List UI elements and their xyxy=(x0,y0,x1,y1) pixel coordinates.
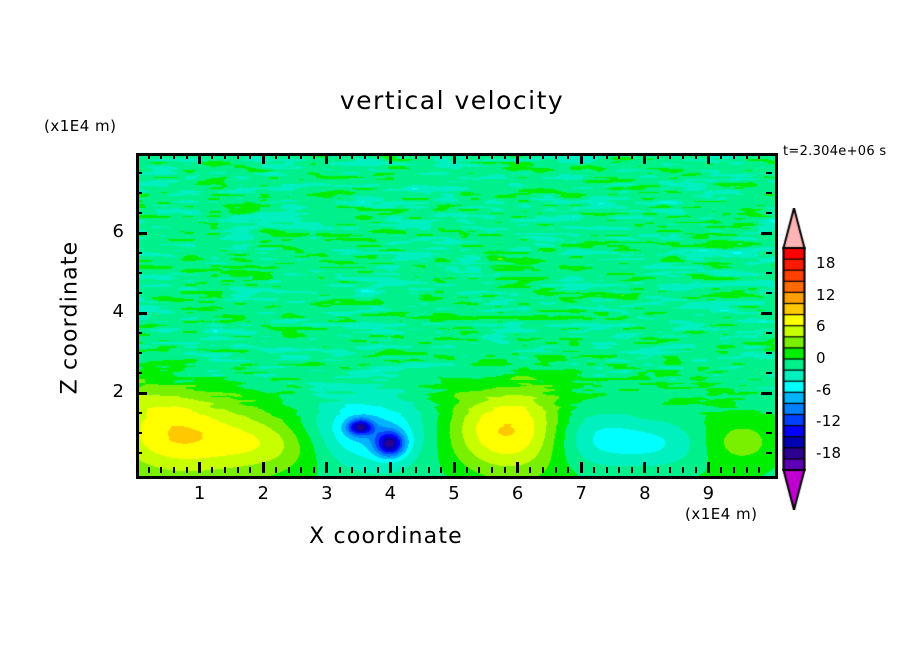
x-minor-tick-top xyxy=(402,153,404,159)
x-minor-tick xyxy=(682,467,684,473)
contour-field xyxy=(139,156,775,476)
x-minor-tick xyxy=(148,467,150,473)
x-minor-tick xyxy=(720,467,722,473)
y-major-tick xyxy=(136,312,147,315)
y-minor-tick-right xyxy=(766,332,772,334)
x-minor-tick xyxy=(657,467,659,473)
x-tick-label: 4 xyxy=(370,483,410,504)
x-tick-label: 1 xyxy=(180,483,220,504)
y-minor-tick xyxy=(136,452,142,454)
x-minor-tick-top xyxy=(364,153,366,159)
colorbar-tick-label: -6 xyxy=(816,381,832,399)
x-major-tick-top xyxy=(389,153,392,164)
x-minor-tick xyxy=(351,467,353,473)
x-minor-tick xyxy=(339,467,341,473)
x-minor-tick xyxy=(186,467,188,473)
y-minor-tick-right xyxy=(766,192,772,194)
colorbar-gradient xyxy=(782,208,806,510)
x-minor-tick xyxy=(440,467,442,473)
x-minor-tick xyxy=(746,467,748,473)
x-minor-tick-top xyxy=(249,153,251,159)
y-major-tick xyxy=(136,392,147,395)
x-minor-tick-top xyxy=(491,153,493,159)
y-minor-tick-right xyxy=(766,412,772,414)
x-minor-tick xyxy=(288,467,290,473)
x-minor-tick-top xyxy=(300,153,302,159)
colorbar-tick-label: -18 xyxy=(816,444,841,462)
y-minor-tick-right xyxy=(766,452,772,454)
contour-figure: vertical velocity (x1E4 m) t=2.304e+06 s… xyxy=(0,0,904,654)
x-minor-tick xyxy=(529,467,531,473)
x-minor-tick xyxy=(542,467,544,473)
x-minor-tick-top xyxy=(377,153,379,159)
y-major-tick-right xyxy=(761,392,772,395)
time-annotation: t=2.304e+06 s xyxy=(783,144,886,159)
x-tick-label: 6 xyxy=(498,483,538,504)
x-minor-tick-top xyxy=(695,153,697,159)
x-minor-tick-top xyxy=(351,153,353,159)
colorbar-tick-label: 6 xyxy=(816,317,826,335)
x-minor-tick-top xyxy=(466,153,468,159)
x-minor-tick-top xyxy=(555,153,557,159)
x-minor-tick xyxy=(478,467,480,473)
x-minor-tick-top xyxy=(504,153,506,159)
x-major-tick-top xyxy=(262,153,265,164)
x-minor-tick xyxy=(313,467,315,473)
y-minor-tick-right xyxy=(766,432,772,434)
x-major-tick-top xyxy=(707,153,710,164)
x-minor-tick xyxy=(275,467,277,473)
page-title: vertical velocity xyxy=(0,86,904,115)
colorbar-tick-label: 0 xyxy=(816,349,826,367)
x-major-tick xyxy=(516,462,519,473)
x-minor-tick xyxy=(567,467,569,473)
x-minor-tick-top xyxy=(733,153,735,159)
x-minor-tick-top xyxy=(313,153,315,159)
x-minor-tick xyxy=(237,467,239,473)
y-minor-tick-right xyxy=(766,292,772,294)
x-minor-tick-top xyxy=(160,153,162,159)
x-minor-tick-top xyxy=(173,153,175,159)
x-minor-tick xyxy=(428,467,430,473)
x-major-tick xyxy=(453,462,456,473)
x-axis-title: X coordinate xyxy=(0,524,772,549)
x-minor-tick-top xyxy=(567,153,569,159)
x-minor-tick xyxy=(555,467,557,473)
x-minor-tick-top xyxy=(148,153,150,159)
y-major-tick-right xyxy=(761,232,772,235)
x-major-tick-top xyxy=(325,153,328,164)
x-major-tick-top xyxy=(580,153,583,164)
x-minor-tick xyxy=(606,467,608,473)
x-major-tick xyxy=(325,462,328,473)
x-minor-tick-top xyxy=(224,153,226,159)
x-minor-tick-top xyxy=(275,153,277,159)
x-minor-tick-top xyxy=(593,153,595,159)
y-tick-label: 2 xyxy=(92,381,124,402)
y-minor-tick xyxy=(136,412,142,414)
x-minor-tick-top xyxy=(478,153,480,159)
x-minor-tick-top xyxy=(631,153,633,159)
x-major-tick xyxy=(262,462,265,473)
x-tick-label: 5 xyxy=(434,483,474,504)
x-minor-tick xyxy=(466,467,468,473)
colorbar xyxy=(782,208,806,510)
y-minor-tick xyxy=(136,172,142,174)
x-minor-tick-top xyxy=(542,153,544,159)
x-major-tick-top xyxy=(453,153,456,164)
x-tick-label: 8 xyxy=(625,483,665,504)
y-minor-tick xyxy=(136,372,142,374)
y-major-tick xyxy=(136,232,147,235)
x-minor-tick-top xyxy=(657,153,659,159)
x-minor-tick xyxy=(618,467,620,473)
x-minor-tick xyxy=(300,467,302,473)
x-major-tick-top xyxy=(516,153,519,164)
y-tick-label: 4 xyxy=(92,301,124,322)
x-minor-tick xyxy=(402,467,404,473)
y-minor-tick xyxy=(136,192,142,194)
x-minor-tick-top xyxy=(186,153,188,159)
x-minor-tick xyxy=(504,467,506,473)
x-major-tick-top xyxy=(643,153,646,164)
x-major-tick xyxy=(643,462,646,473)
x-tick-label: 9 xyxy=(688,483,728,504)
x-minor-tick-top xyxy=(237,153,239,159)
x-minor-tick xyxy=(249,467,251,473)
x-major-tick xyxy=(389,462,392,473)
y-minor-tick xyxy=(136,252,142,254)
y-minor-tick xyxy=(136,272,142,274)
x-minor-tick xyxy=(160,467,162,473)
y-minor-tick-right xyxy=(766,272,772,274)
y-minor-tick-right xyxy=(766,172,772,174)
x-minor-tick xyxy=(758,467,760,473)
x-tick-label: 2 xyxy=(243,483,283,504)
x-major-tick xyxy=(198,462,201,473)
y-minor-tick xyxy=(136,292,142,294)
colorbar-tick-label: 12 xyxy=(816,286,836,304)
x-minor-tick-top xyxy=(288,153,290,159)
x-minor-tick xyxy=(224,467,226,473)
y-axis-title: Z coordinate xyxy=(58,218,83,418)
y-tick-label: 6 xyxy=(92,221,124,242)
y-minor-tick-right xyxy=(766,372,772,374)
x-minor-tick xyxy=(593,467,595,473)
x-minor-tick xyxy=(695,467,697,473)
x-minor-tick xyxy=(631,467,633,473)
y-minor-tick xyxy=(136,432,142,434)
x-minor-tick xyxy=(733,467,735,473)
colorbar-tick-label: 18 xyxy=(816,254,836,272)
x-minor-tick xyxy=(364,467,366,473)
x-minor-tick xyxy=(669,467,671,473)
x-major-tick xyxy=(707,462,710,473)
x-minor-tick-top xyxy=(428,153,430,159)
x-minor-tick xyxy=(491,467,493,473)
y-minor-tick xyxy=(136,332,142,334)
x-minor-tick xyxy=(415,467,417,473)
x-minor-tick-top xyxy=(746,153,748,159)
colorbar-tick-label: -12 xyxy=(816,412,841,430)
y-minor-tick-right xyxy=(766,212,772,214)
x-minor-tick-top xyxy=(758,153,760,159)
x-minor-tick-top xyxy=(669,153,671,159)
plot-area xyxy=(136,153,778,479)
x-minor-tick-top xyxy=(339,153,341,159)
x-minor-tick-top xyxy=(618,153,620,159)
y-axis-unit-label: (x1E4 m) xyxy=(44,117,117,135)
x-axis-unit-label: (x1E4 m) xyxy=(685,505,758,523)
y-major-tick-right xyxy=(761,312,772,315)
y-minor-tick xyxy=(136,212,142,214)
x-minor-tick xyxy=(211,467,213,473)
y-minor-tick-right xyxy=(766,352,772,354)
x-minor-tick-top xyxy=(720,153,722,159)
x-tick-label: 3 xyxy=(307,483,347,504)
x-major-tick xyxy=(580,462,583,473)
x-minor-tick-top xyxy=(415,153,417,159)
x-minor-tick xyxy=(173,467,175,473)
y-minor-tick-right xyxy=(766,252,772,254)
x-minor-tick-top xyxy=(440,153,442,159)
x-minor-tick-top xyxy=(606,153,608,159)
x-major-tick-top xyxy=(198,153,201,164)
x-minor-tick-top xyxy=(211,153,213,159)
x-tick-label: 7 xyxy=(561,483,601,504)
y-minor-tick xyxy=(136,352,142,354)
x-minor-tick-top xyxy=(682,153,684,159)
x-minor-tick xyxy=(377,467,379,473)
x-minor-tick-top xyxy=(529,153,531,159)
